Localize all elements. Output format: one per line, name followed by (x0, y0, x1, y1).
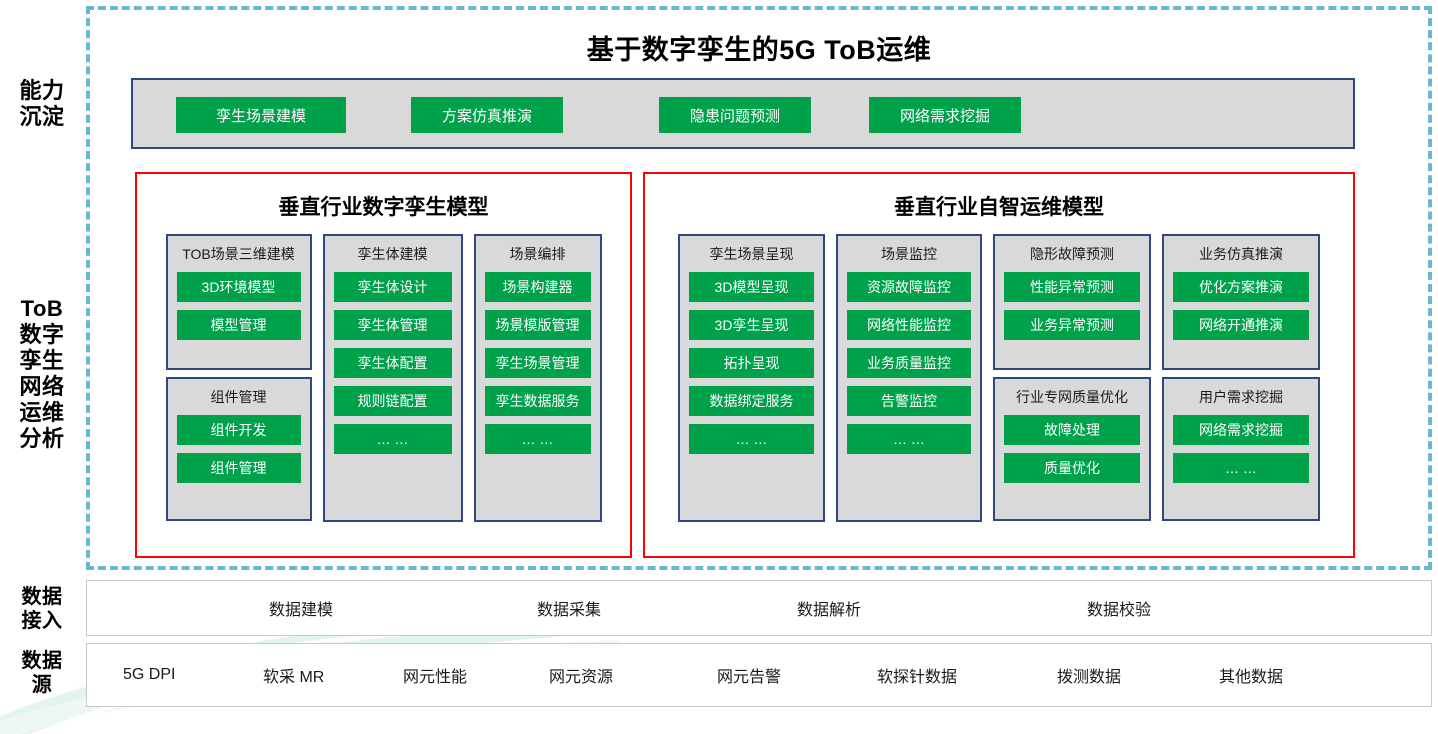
column-2: 孪生体建模孪生体设计孪生体管理孪生体配置规则链配置… … (323, 234, 463, 522)
card-title: 行业专网质量优化 (1004, 387, 1140, 407)
card-title: 组件管理 (177, 387, 301, 407)
data-source-item-8: 其他数据 (1219, 663, 1283, 687)
card-item[interactable]: 优化方案推演 (1173, 272, 1309, 302)
card-item[interactable]: 3D模型呈现 (689, 272, 814, 302)
capability-strip: 孪生场景建模 方案仿真推演 隐患问题预测 网络需求挖掘 (131, 78, 1355, 149)
panel-title-autonomous-ops: 垂直行业自智运维模型 (645, 191, 1353, 221)
card-item[interactable]: 网络性能监控 (847, 310, 971, 340)
card-item[interactable]: 场景构建器 (485, 272, 591, 302)
card-item[interactable]: 孪生体管理 (334, 310, 452, 340)
capability-button-3[interactable]: 隐患问题预测 (659, 97, 811, 133)
card-title: 业务仿真推演 (1173, 244, 1309, 264)
rail-capability-line-2: 沉淀 (0, 104, 84, 130)
capability-button-4[interactable]: 网络需求挖掘 (869, 97, 1021, 133)
panel-columns-digital-twin: TOB场景三维建模3D环境模型模型管理组件管理组件开发组件管理孪生体建模孪生体设… (137, 234, 630, 522)
card-title: 用户需求挖掘 (1173, 387, 1309, 407)
data-access-item-4: 数据校验 (1087, 596, 1151, 620)
capability-button-1[interactable]: 孪生场景建模 (176, 97, 346, 133)
card-item[interactable]: … … (334, 424, 452, 454)
data-source-row: 5G DPI软采 MR网元性能网元资源网元告警软探针数据拨测数据其他数据 (86, 643, 1432, 707)
rail-label-tob: ToB 数字 孪生 网络 运维 分析 (0, 296, 84, 452)
column-4: 业务仿真推演优化方案推演网络开通推演用户需求挖掘网络需求挖掘… … (1162, 234, 1320, 522)
card-item[interactable]: 3D孪生呈现 (689, 310, 814, 340)
rail-label-capability: 能力 沉淀 (0, 78, 84, 130)
card-item[interactable]: 模型管理 (177, 310, 301, 340)
card-item[interactable]: 场景模版管理 (485, 310, 591, 340)
data-source-item-4: 网元资源 (549, 663, 613, 687)
data-source-item-2: 软采 MR (263, 663, 324, 687)
card-group: 场景监控资源故障监控网络性能监控业务质量监控告警监控… … (836, 234, 982, 522)
card-item[interactable]: 性能异常预测 (1004, 272, 1140, 302)
rail-label-data-access: 数据 接入 (0, 586, 84, 633)
data-access-item-2: 数据采集 (537, 596, 601, 620)
rail-capability-line-1: 能力 (0, 78, 84, 104)
card-item[interactable]: 告警监控 (847, 386, 971, 416)
card-item[interactable]: 数据绑定服务 (689, 386, 814, 416)
rail-tob-line-2: 数字 (0, 322, 84, 348)
card-title: 孪生体建模 (334, 244, 452, 264)
rail-tob-line-6: 分析 (0, 426, 84, 452)
rail-tob-line-1: ToB (0, 296, 84, 322)
card-group: 场景编排场景构建器场景模版管理孪生场景管理孪生数据服务… … (474, 234, 602, 522)
rail-source-line-2: 源 (0, 674, 84, 698)
card-item[interactable]: 孪生场景管理 (485, 348, 591, 378)
card-title: 隐形故障预测 (1004, 244, 1140, 264)
card-item[interactable]: 组件管理 (177, 453, 301, 483)
card-item[interactable]: … … (1173, 453, 1309, 483)
card-item[interactable]: 网络开通推演 (1173, 310, 1309, 340)
card-item[interactable]: 规则链配置 (334, 386, 452, 416)
card-item[interactable]: 孪生体设计 (334, 272, 452, 302)
rail-label-data-source: 数据 源 (0, 650, 84, 697)
card-item[interactable]: 资源故障监控 (847, 272, 971, 302)
panel-digital-twin-model: 垂直行业数字孪生模型 TOB场景三维建模3D环境模型模型管理组件管理组件开发组件… (135, 172, 632, 558)
card-item[interactable]: 孪生数据服务 (485, 386, 591, 416)
card-group: 孪生体建模孪生体设计孪生体管理孪生体配置规则链配置… … (323, 234, 463, 522)
rail-tob-line-4: 网络 (0, 374, 84, 400)
panel-columns-autonomous-ops: 孪生场景呈现3D模型呈现3D孪生呈现拓扑呈现数据绑定服务… …场景监控资源故障监… (645, 234, 1353, 522)
card-item[interactable]: 拓扑呈现 (689, 348, 814, 378)
card-item[interactable]: 故障处理 (1004, 415, 1140, 445)
card-item[interactable]: … … (689, 424, 814, 454)
card-title: TOB场景三维建模 (177, 244, 301, 264)
column-3: 场景编排场景构建器场景模版管理孪生场景管理孪生数据服务… … (474, 234, 602, 522)
data-source-item-6: 软探针数据 (877, 663, 957, 687)
card-item[interactable]: 质量优化 (1004, 453, 1140, 483)
card-item[interactable]: … … (847, 424, 971, 454)
card-group: 孪生场景呈现3D模型呈现3D孪生呈现拓扑呈现数据绑定服务… … (678, 234, 825, 522)
column-2: 场景监控资源故障监控网络性能监控业务质量监控告警监控… … (836, 234, 982, 522)
card-item[interactable]: 组件开发 (177, 415, 301, 445)
card-title: 场景监控 (847, 244, 971, 264)
card-item[interactable]: 3D环境模型 (177, 272, 301, 302)
data-access-item-3: 数据解析 (797, 596, 861, 620)
capability-button-2[interactable]: 方案仿真推演 (411, 97, 563, 133)
card-item[interactable]: 业务质量监控 (847, 348, 971, 378)
data-access-item-1: 数据建模 (269, 596, 333, 620)
card-item[interactable]: 孪生体配置 (334, 348, 452, 378)
data-access-row: 数据建模数据采集数据解析数据校验 (86, 580, 1432, 636)
card-item[interactable]: … … (485, 424, 591, 454)
rail-source-line-1: 数据 (0, 650, 84, 674)
card-item[interactable]: 网络需求挖掘 (1173, 415, 1309, 445)
card-group: 隐形故障预测性能异常预测业务异常预测 (993, 234, 1151, 370)
card-group: 业务仿真推演优化方案推演网络开通推演 (1162, 234, 1320, 370)
rail-access-line-2: 接入 (0, 610, 84, 634)
data-source-item-7: 拨测数据 (1057, 663, 1121, 687)
card-group: TOB场景三维建模3D环境模型模型管理 (166, 234, 312, 370)
card-group: 用户需求挖掘网络需求挖掘… … (1162, 377, 1320, 521)
data-source-item-1: 5G DPI (123, 666, 175, 684)
page-title: 基于数字孪生的5G ToB运维 (86, 28, 1432, 67)
rail-tob-line-3: 孪生 (0, 348, 84, 374)
card-group: 组件管理组件开发组件管理 (166, 377, 312, 521)
data-source-items: 5G DPI软采 MR网元性能网元资源网元告警软探针数据拨测数据其他数据 (87, 644, 1431, 706)
rail-tob-line-5: 运维 (0, 400, 84, 426)
data-access-items: 数据建模数据采集数据解析数据校验 (87, 581, 1431, 635)
diagram-root: 能力 沉淀 ToB 数字 孪生 网络 运维 分析 数据 接入 数据 源 基于数字… (0, 0, 1438, 734)
card-title: 场景编排 (485, 244, 591, 264)
card-item[interactable]: 业务异常预测 (1004, 310, 1140, 340)
data-source-item-3: 网元性能 (403, 663, 467, 687)
panel-title-digital-twin: 垂直行业数字孪生模型 (137, 191, 630, 221)
data-source-item-5: 网元告警 (717, 663, 781, 687)
column-1: TOB场景三维建模3D环境模型模型管理组件管理组件开发组件管理 (166, 234, 312, 522)
column-3: 隐形故障预测性能异常预测业务异常预测行业专网质量优化故障处理质量优化 (993, 234, 1151, 522)
panel-autonomous-ops-model: 垂直行业自智运维模型 孪生场景呈现3D模型呈现3D孪生呈现拓扑呈现数据绑定服务…… (643, 172, 1355, 558)
card-group: 行业专网质量优化故障处理质量优化 (993, 377, 1151, 521)
rail-access-line-1: 数据 (0, 586, 84, 610)
card-title: 孪生场景呈现 (689, 244, 814, 264)
column-1: 孪生场景呈现3D模型呈现3D孪生呈现拓扑呈现数据绑定服务… … (678, 234, 825, 522)
